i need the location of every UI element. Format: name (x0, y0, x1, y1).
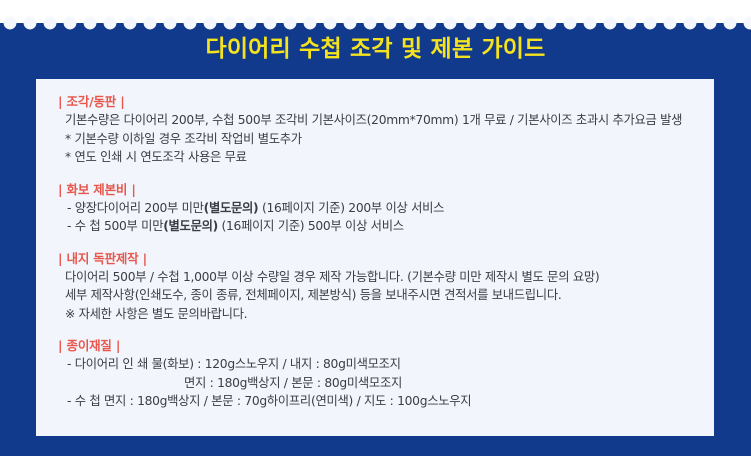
top-white-margin (0, 0, 751, 23)
section-heading-engraving: | 조각/동판 | (58, 92, 714, 111)
guide-page: 다이어리 수첩 조각 및 제본 가이드 | 조각/동판 | 기본수량은 다이어리… (0, 0, 751, 473)
row-text-pre: - 수 첩 500부 미만 (67, 219, 163, 233)
row-text-pre: - 양장다이어리 200부 미만 (67, 201, 204, 215)
section-custom-inner-pages: | 내지 독판제작 | 다이어리 500부 / 수첩 1,000부 이상 수량일… (36, 249, 714, 324)
section-line: - 양장다이어리 200부 미만(별도문의) (16페이지 기준) 200부 이… (58, 199, 714, 218)
section-line: 다이어리 500부 / 수첩 1,000부 이상 수량일 경우 제작 가능합니다… (58, 268, 714, 287)
section-line: - 다이어리 인 쇄 물(화보) : 120g스노우지 / 내지 : 80g미색… (58, 355, 714, 374)
section-line: 면지 : 180g백상지 / 본문 : 80g미색모조지 (58, 374, 714, 393)
page-title-text: 다이어리 수첩 조각 및 제본 가이드 (205, 34, 545, 64)
section-line: - 수 첩 500부 미만(별도문의) (16페이지 기준) 500부 이상 서… (58, 217, 714, 236)
section-engraving: | 조각/동판 | 기본수량은 다이어리 200부, 수첩 500부 조각비 기… (36, 92, 714, 167)
section-line: - 수 첩 면지 : 180g백상지 / 본문 : 70g하이프리(연미색) /… (58, 392, 714, 411)
section-line: 기본수량은 다이어리 200부, 수첩 500부 조각비 기본사이즈(20mm*… (58, 111, 714, 130)
section-heading-paper-material: | 종이재질 | (58, 336, 714, 355)
row-text-bold: (별도문의) (163, 219, 218, 233)
guide-content-card: | 조각/동판 | 기본수량은 다이어리 200부, 수첩 500부 조각비 기… (36, 79, 714, 436)
section-binding-cost: | 화보 제본비 | - 양장다이어리 200부 미만(별도문의) (16페이지… (36, 180, 714, 236)
section-line: * 연도 인쇄 시 연도조각 사용은 무료 (58, 148, 714, 167)
page-title: 다이어리 수첩 조각 및 제본 가이드 (0, 34, 751, 64)
section-line: ※ 자세한 사항은 별도 문의바랍니다. (58, 305, 714, 324)
section-heading-custom-inner-pages: | 내지 독판제작 | (58, 249, 714, 268)
section-heading-binding-cost: | 화보 제본비 | (58, 180, 714, 199)
section-paper-material: | 종이재질 | - 다이어리 인 쇄 물(화보) : 120g스노우지 / 내… (36, 336, 714, 411)
section-line: * 기본수량 이하일 경우 조각비 작업비 별도추가 (58, 130, 714, 149)
row-text-bold: (별도문의) (204, 201, 259, 215)
row-text-post: (16페이지 기준) 500부 이상 서비스 (218, 219, 404, 233)
section-line: 세부 제작사항(인쇄도수, 종이 종류, 전체페이지, 제본방식) 등을 보내주… (58, 286, 714, 305)
row-text-post: (16페이지 기준) 200부 이상 서비스 (258, 201, 444, 215)
